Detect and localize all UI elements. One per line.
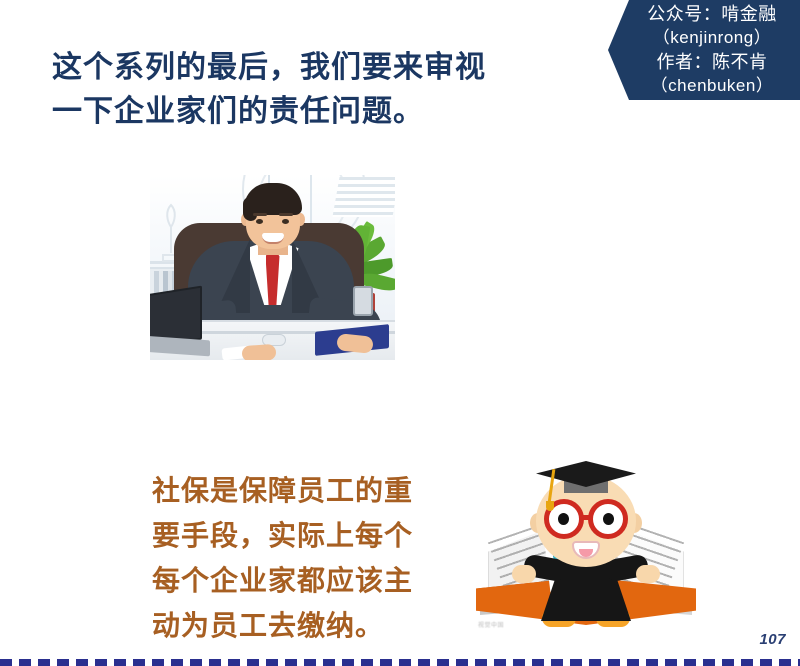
body-paragraph-line-3: 每个企业家都应该主	[152, 558, 472, 603]
businessman-illustration	[150, 175, 395, 360]
headline-line-2: 一下企业家们的责任问题。	[52, 90, 572, 134]
businessman-hair-side	[243, 197, 257, 221]
body-paragraph-line-1: 社保是保障员工的重	[152, 468, 472, 513]
banner-line-account: 公众号：啃金融	[647, 2, 777, 26]
graduate-pupil-left	[558, 513, 569, 525]
graduate-illustration: 视觉中国	[462, 457, 710, 635]
mobile-phone-icon	[353, 286, 373, 316]
businessman-eyebrow-right	[279, 213, 293, 216]
banner-line-author: 作者：陈不肯	[657, 50, 768, 74]
page-number: 107	[759, 631, 786, 648]
banner-line-account-id: （kenjinrong）	[653, 26, 771, 50]
body-paragraph-line-4: 动为员工去缴纳。	[152, 603, 472, 648]
banner-line-author-id: （chenbuken）	[651, 74, 774, 98]
headline-line-1: 这个系列的最后，我们要来审视	[52, 46, 572, 90]
graduate-hand-left	[512, 565, 536, 583]
headline: 这个系列的最后，我们要来审视 一下企业家们的责任问题。	[52, 46, 572, 134]
businessman-eyebrow-left	[253, 213, 267, 216]
graduate-pupil-right	[603, 513, 614, 525]
graduation-cap-tassel-knot-icon	[546, 501, 554, 511]
stock-image-watermark: 视觉中国	[478, 620, 504, 629]
body-paragraph: 社保是保障员工的重 要手段，实际上每个 每个企业家都应该主 动为员工去缴纳。	[152, 468, 472, 648]
eyeglasses-bridge-icon	[583, 515, 589, 520]
window-blinds-icon	[332, 177, 395, 217]
businessman-eye-right	[282, 219, 289, 224]
footer-dashed-rule	[0, 659, 800, 666]
graduate-hand-right	[636, 565, 660, 583]
businessman-eye-left	[256, 219, 263, 224]
businessman-hand-left	[241, 344, 276, 360]
body-paragraph-line-2: 要手段，实际上每个	[152, 513, 472, 558]
businessman-mouth	[262, 233, 284, 244]
slide-canvas: 公众号：啃金融 （kenjinrong） 作者：陈不肯 （chenbuken） …	[0, 0, 800, 666]
author-banner: 公众号：啃金融 （kenjinrong） 作者：陈不肯 （chenbuken）	[608, 0, 800, 100]
